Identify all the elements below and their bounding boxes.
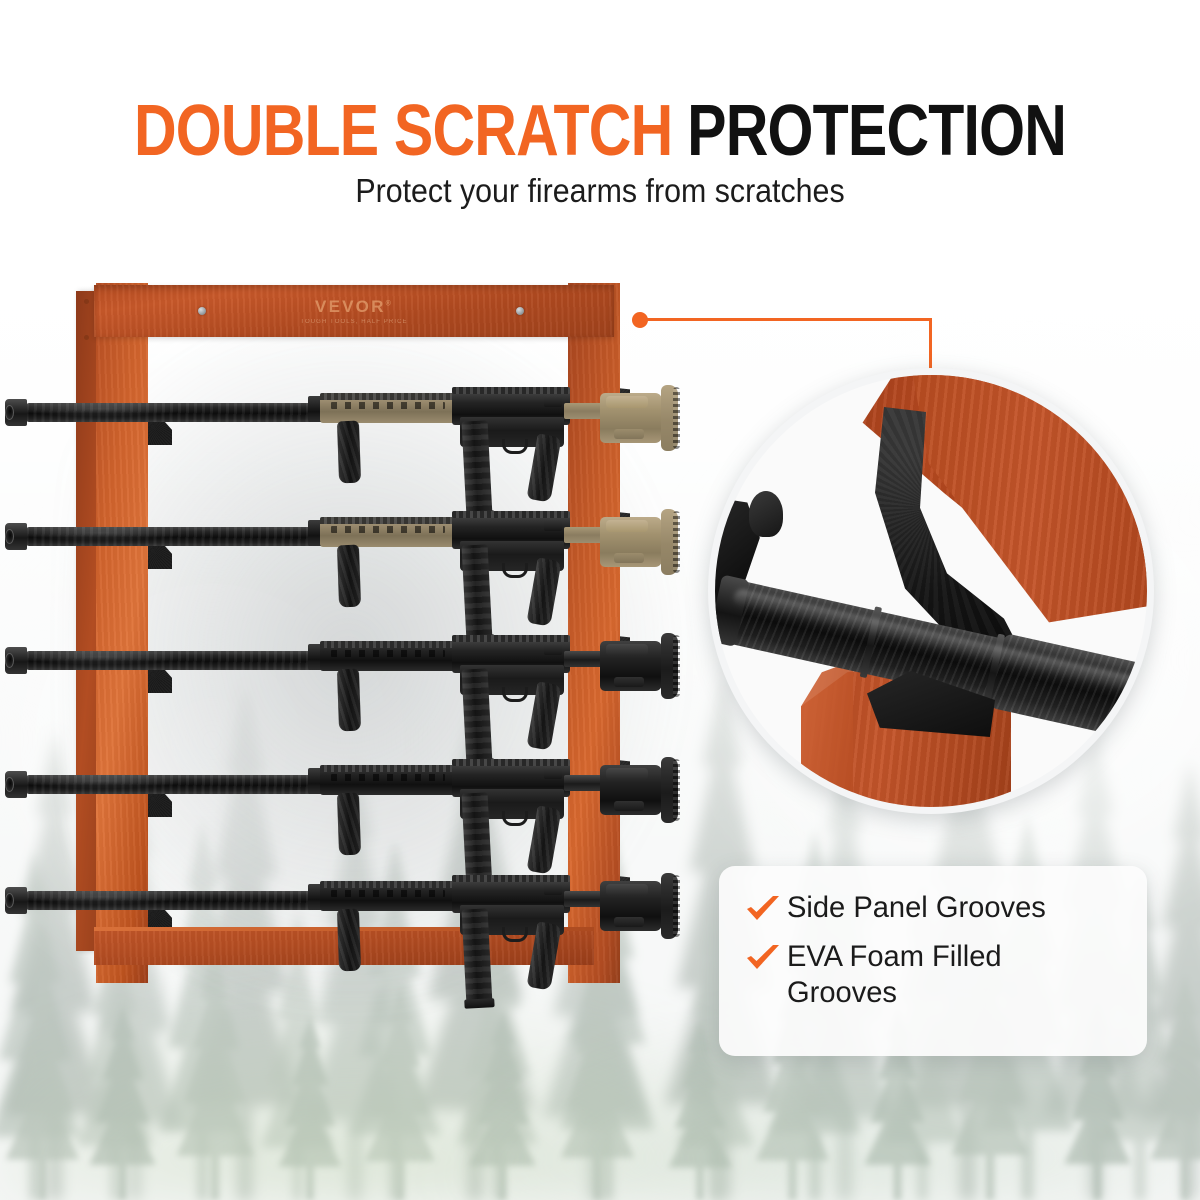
muzzle-1	[5, 399, 27, 426]
handguard-tan-1	[320, 393, 456, 423]
feature-item: EVA Foam Filled Grooves	[745, 939, 1121, 1010]
mount-screw-right	[516, 307, 524, 315]
feature-item: Side Panel Grooves	[745, 890, 1121, 925]
stock-tan-2	[600, 509, 678, 575]
vevor-tagline: TOUGH TOOLS, HALF PRICE	[94, 319, 614, 325]
rifle-tier-1	[8, 365, 708, 461]
vevor-branding: VEVOR® TOUGH TOOLS, HALF PRICE	[94, 297, 614, 325]
headline-orange: DOUBLE SCRATCH	[134, 91, 672, 171]
foregrip-4	[337, 793, 361, 856]
foregrip-5	[337, 909, 361, 972]
rifle-tier-2	[8, 489, 708, 585]
foregrip-2	[337, 545, 361, 608]
rack-top-rail: VEVOR® TOUGH TOOLS, HALF PRICE	[94, 285, 614, 337]
foregrip-3	[337, 669, 361, 732]
mount-hole-top	[84, 299, 89, 304]
muzzle-4	[5, 771, 27, 798]
rifle-tier-5	[8, 853, 708, 949]
handguard-black-3	[320, 641, 456, 671]
handguard-black-4	[320, 765, 456, 795]
muzzle-2	[5, 523, 27, 550]
feature-label: Side Panel Grooves	[787, 890, 1046, 925]
vevor-logo: VEVOR®	[94, 297, 614, 317]
callout-line-horizontal	[646, 318, 932, 321]
rifle-tier-4	[8, 737, 708, 833]
headline-black: PROTECTION	[687, 91, 1066, 171]
product-marketing-banner: DOUBLE SCRATCHPROTECTION Protect your fi…	[0, 0, 1200, 1200]
feature-callout-card: Side Panel Grooves EVA Foam Filled Groov…	[719, 866, 1147, 1056]
handguard-black-5	[320, 881, 456, 911]
mount-hole-bottom	[84, 335, 89, 340]
foregrip-1	[337, 421, 361, 484]
detail-magnifier-circle	[708, 368, 1154, 814]
stock-black-5	[600, 873, 678, 939]
handguard-tan-2	[320, 517, 456, 547]
stock-black-4	[600, 757, 678, 823]
stock-black-3	[600, 633, 678, 699]
check-icon	[745, 939, 787, 973]
page-headline: DOUBLE SCRATCHPROTECTION	[108, 95, 1092, 167]
stock-tan-1	[600, 385, 678, 451]
muzzle-5	[5, 887, 27, 914]
detail-foam-nub-cap	[749, 491, 783, 537]
magazine-5	[462, 908, 493, 1005]
page-subtitle: Protect your firearms from scratches	[48, 172, 1152, 210]
mount-screw-left	[198, 307, 206, 315]
muzzle-3	[5, 647, 27, 674]
rifle-tier-3	[8, 613, 708, 709]
feature-label: EVA Foam Filled Grooves	[787, 939, 1111, 1010]
gun-rack: VEVOR® TOUGH TOOLS, HALF PRICE	[70, 283, 690, 1013]
check-icon	[745, 890, 787, 924]
